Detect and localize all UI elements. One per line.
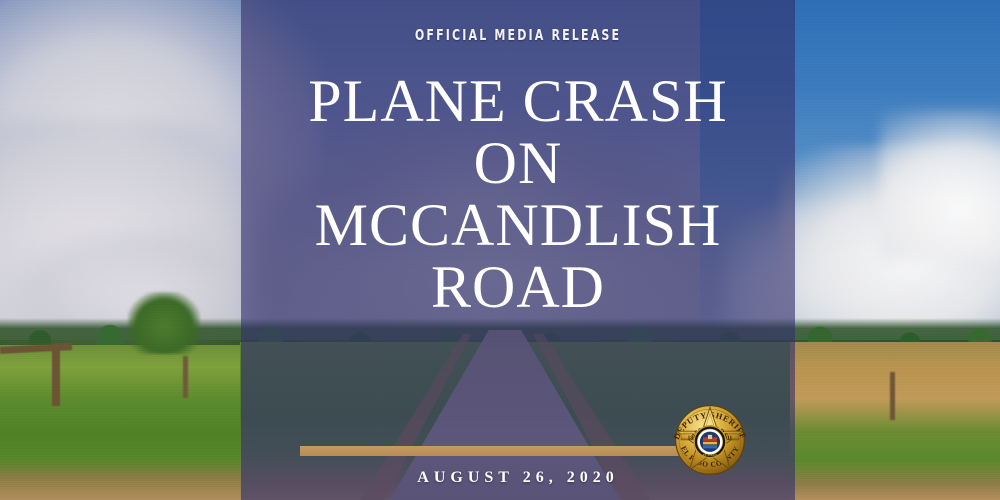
eyebrow-label: OFFICIAL MEDIA RELEASE bbox=[291, 26, 745, 44]
title-line-4: Road bbox=[241, 256, 795, 318]
media-release-poster: OFFICIAL MEDIA RELEASE Plane Crash on Mc… bbox=[0, 0, 1000, 500]
deputy-sheriff-badge-icon: DEPUTY SHERIFF EL PASO COUNTY 1861 2011 … bbox=[666, 396, 754, 484]
svg-text:EL PASO: EL PASO bbox=[703, 453, 718, 457]
title-line-3: McCandlish bbox=[241, 194, 795, 256]
title-line-2: on bbox=[241, 132, 795, 194]
title-line-1: Plane Crash bbox=[241, 70, 795, 132]
page-title: Plane Crash on McCandlish Road bbox=[241, 70, 795, 318]
